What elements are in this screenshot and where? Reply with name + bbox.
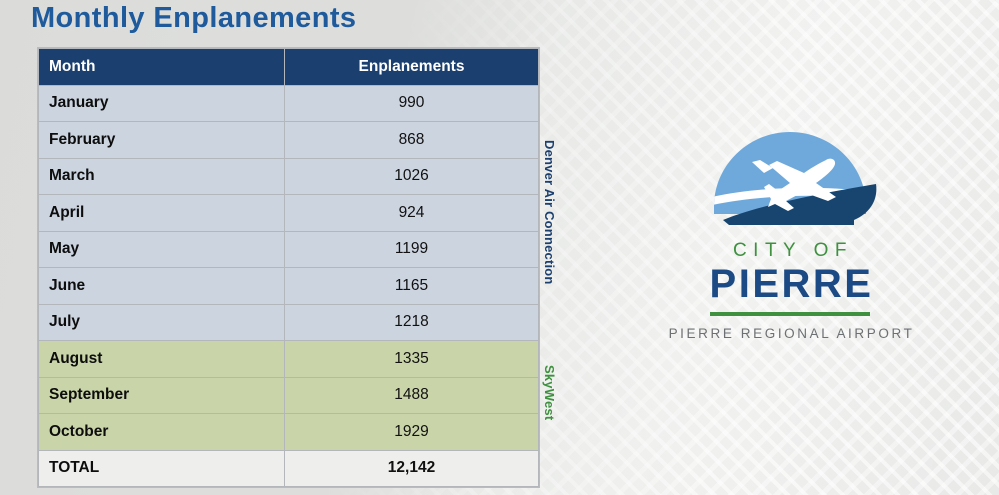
cell-enplanements: 1929 bbox=[285, 414, 539, 451]
table-row: February 868 bbox=[39, 122, 539, 159]
cell-enplanements: 1199 bbox=[285, 231, 539, 268]
table-row: January 990 bbox=[39, 85, 539, 122]
cell-total-enplanements: 12,142 bbox=[285, 450, 539, 487]
page-title: Monthly Enplanements bbox=[31, 2, 356, 35]
cell-month: May bbox=[39, 231, 285, 268]
logo-divider-rule bbox=[710, 312, 870, 316]
column-header-month: Month bbox=[39, 49, 285, 86]
logo-pierre-text: PIERRE bbox=[640, 263, 940, 305]
airport-logo: CITY OF PIERRE PIERRE REGIONAL AIRPORT bbox=[640, 128, 940, 341]
cell-total-label: TOTAL bbox=[39, 450, 285, 487]
table-row: October 1929 bbox=[39, 414, 539, 451]
table-row: August 1335 bbox=[39, 341, 539, 378]
cell-enplanements: 990 bbox=[285, 85, 539, 122]
cell-enplanements: 1165 bbox=[285, 268, 539, 305]
table-total-row: TOTAL 12,142 bbox=[39, 450, 539, 487]
cell-month: July bbox=[39, 304, 285, 341]
cell-month: October bbox=[39, 414, 285, 451]
cell-month: September bbox=[39, 377, 285, 414]
table-header: Month Enplanements bbox=[39, 49, 539, 86]
logo-tagline-text: PIERRE REGIONAL AIRPORT bbox=[640, 326, 940, 341]
table-row: June 1165 bbox=[39, 268, 539, 305]
cell-month: February bbox=[39, 122, 285, 159]
cell-enplanements: 1335 bbox=[285, 341, 539, 378]
table-row: July 1218 bbox=[39, 304, 539, 341]
table-body: January 990 February 868 March 1026 Apri… bbox=[39, 85, 539, 487]
cell-month: August bbox=[39, 341, 285, 378]
cell-month: January bbox=[39, 85, 285, 122]
table-row: September 1488 bbox=[39, 377, 539, 414]
carrier-label-skywest: SkyWest bbox=[542, 345, 557, 440]
cell-month: April bbox=[39, 195, 285, 232]
cell-enplanements: 1218 bbox=[285, 304, 539, 341]
enplanements-table: Month Enplanements January 990 February … bbox=[38, 48, 539, 487]
cell-enplanements: 1488 bbox=[285, 377, 539, 414]
airplane-dome-logo-icon bbox=[640, 128, 940, 233]
table-row: April 924 bbox=[39, 195, 539, 232]
table-row: March 1026 bbox=[39, 158, 539, 195]
cell-month: June bbox=[39, 268, 285, 305]
column-header-enplanements: Enplanements bbox=[285, 49, 539, 86]
table-header-row: Month Enplanements bbox=[39, 49, 539, 86]
carrier-label-denver-air-connection: Denver Air Connection bbox=[542, 120, 557, 305]
cell-enplanements: 1026 bbox=[285, 158, 539, 195]
slide-root: Monthly Enplanements Month Enplanements … bbox=[0, 0, 999, 495]
cell-enplanements: 924 bbox=[285, 195, 539, 232]
logo-city-of-text: CITY OF bbox=[640, 240, 940, 262]
cell-enplanements: 868 bbox=[285, 122, 539, 159]
table-row: May 1199 bbox=[39, 231, 539, 268]
cell-month: March bbox=[39, 158, 285, 195]
